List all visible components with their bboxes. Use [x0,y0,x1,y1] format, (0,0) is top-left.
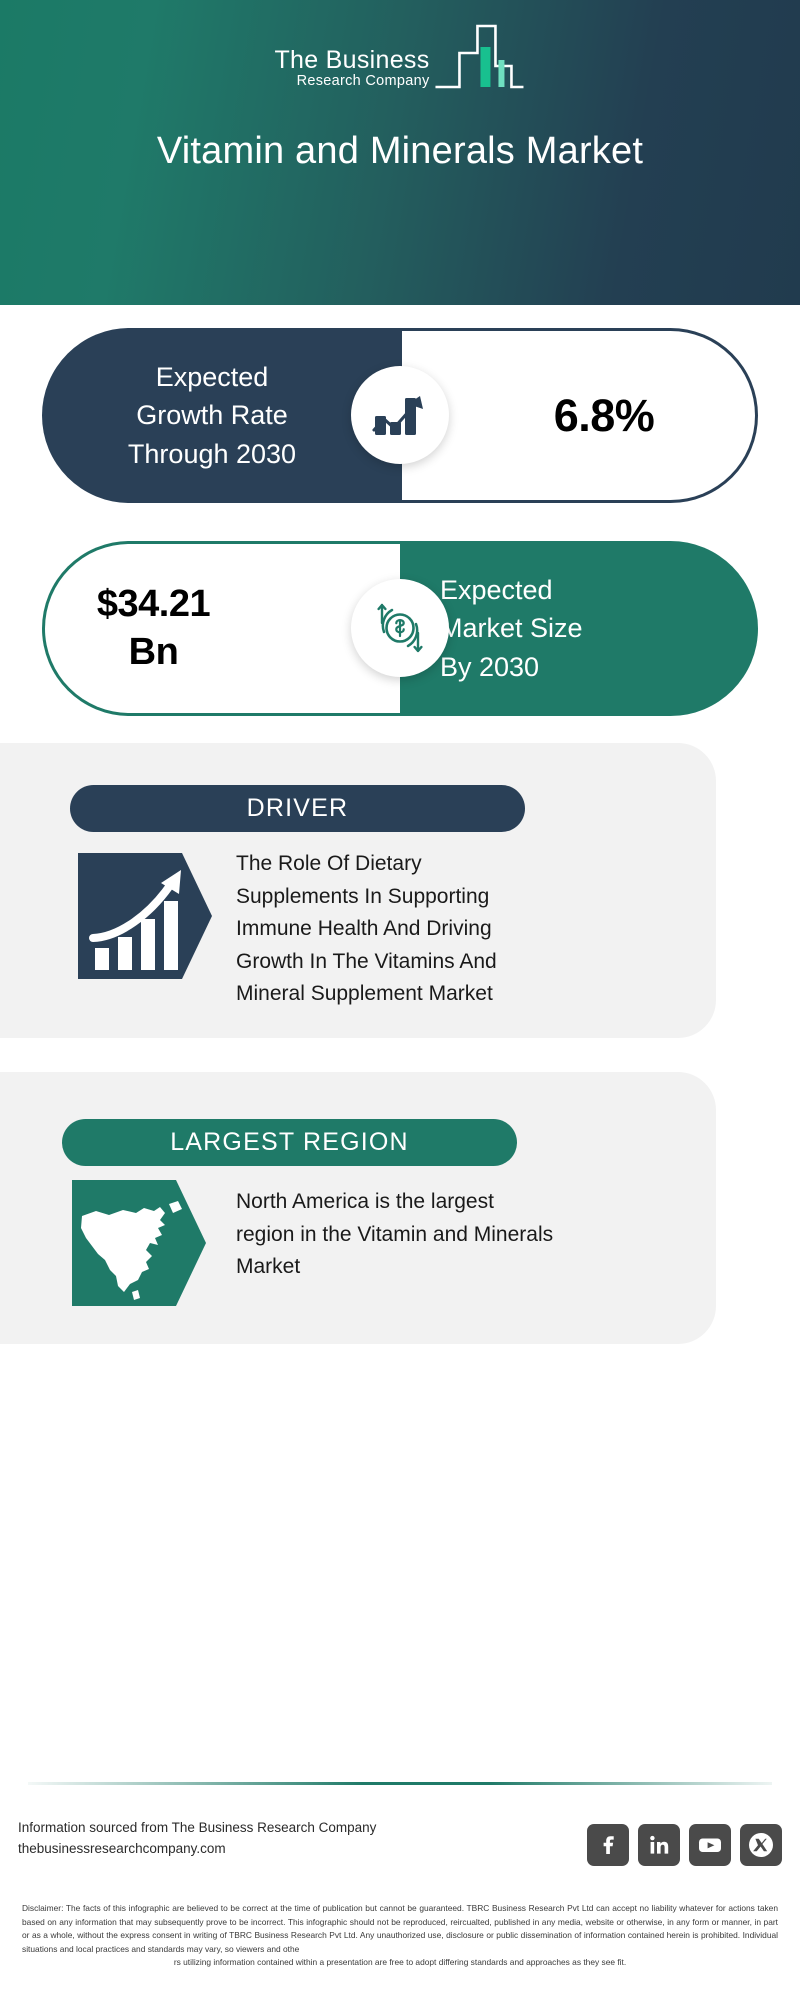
stat-card-growth-rate: Expected Growth Rate Through 2030 6.8% [42,328,758,503]
growth-rate-value: 6.8% [454,328,754,503]
linkedin-icon[interactable] [638,1824,680,1866]
disclaimer-last-line: rs utilizing information contained withi… [22,1956,778,1970]
market-size-value: $34.21 Bn [97,581,350,676]
social-links [587,1824,782,1866]
driver-body-text: The Role Of Dietary Supplements In Suppo… [236,848,536,1011]
logo-text: The Business Research Company [274,47,433,94]
page-title: Vitamin and Minerals Market [0,130,800,173]
dollar-cycle-icon [351,579,449,677]
largest-region-pill: LARGEST REGION [62,1119,517,1166]
youtube-icon[interactable] [689,1824,731,1866]
x-twitter-icon[interactable] [740,1824,782,1866]
largest-region-body-text: North America is the largest region in t… [236,1186,556,1284]
largest-region-pill-label: LARGEST REGION [170,1128,409,1157]
header-banner: The Business Research Company Vitamin an… [0,0,800,305]
disclaimer-text: Disclaimer: The facts of this infographi… [22,1902,778,1970]
market-size-value-panel: $34.21 Bn [42,541,402,716]
market-size-label-text: Expected Market Size By 2030 [400,571,758,686]
stat-card-market-size: $34.21 Bn Expected Market Size By 2030 [42,541,758,716]
growth-bar-chart-arrow-icon [351,366,449,464]
logo-title-line2: Research Company [274,73,429,90]
north-america-map-icon [72,1180,206,1306]
growth-label-text: Expected Growth Rate Through 2030 [128,358,316,473]
company-logo: The Business Research Company [274,22,525,94]
driver-pill: DRIVER [70,785,525,832]
footer-divider [28,1782,772,1785]
footer-attribution: Information sourced from The Business Re… [18,1818,376,1860]
driver-pill-label: DRIVER [247,794,349,823]
growth-label-panel: Expected Growth Rate Through 2030 [42,328,402,503]
facebook-icon[interactable] [587,1824,629,1866]
logo-title-line1: The Business [274,47,429,73]
disclaimer-main: Disclaimer: The facts of this infographi… [22,1903,778,1954]
market-size-label-panel: Expected Market Size By 2030 [400,541,758,716]
rising-bar-chart-arrow-icon [78,853,212,979]
footer-website-link[interactable]: thebusinessresearchcompany.com [18,1839,376,1860]
footer-source-line: Information sourced from The Business Re… [18,1818,376,1839]
bar-chart-logo-mark [434,22,526,94]
